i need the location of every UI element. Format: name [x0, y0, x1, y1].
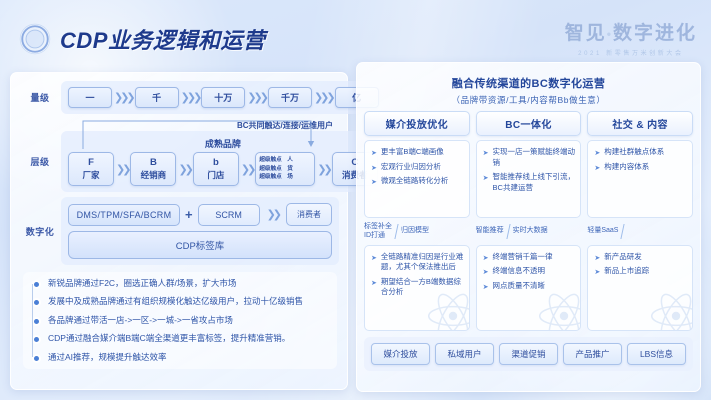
cdp-tag-library-bar[interactable]: CDP标签库 — [68, 231, 332, 259]
capability-label-bigdata: 实时大数据 — [513, 227, 548, 236]
page-title: CDP业务逻辑和运营 — [60, 23, 265, 55]
tier-box-factory[interactable]: F 厂家 — [68, 152, 114, 186]
arrow-marker-icon: ➤ — [371, 164, 377, 172]
arrow-marker-icon: ➤ — [371, 149, 377, 157]
capability-label-attribution: 归因模型 — [401, 227, 429, 236]
capability-group-3: 轻量SaaS — [587, 223, 693, 241]
bullet-text: CDP通过融合媒介端B端C端全渠道更丰富标签，提升精准营销。 — [48, 333, 290, 344]
capability-label-id: ID打通 — [364, 232, 385, 239]
touchpoint-goods: 超级触点 货 — [258, 165, 312, 173]
bullet-dot-icon — [34, 356, 39, 361]
list-item-text: 终端信息不透明 — [493, 266, 546, 277]
list-item-text: 新产品研发 — [604, 252, 642, 263]
arrow-marker-icon: ➤ — [594, 149, 600, 157]
plus-icon: + — [185, 207, 193, 222]
arrow-marker-icon: ➤ — [594, 268, 600, 276]
arrow-marker-icon: ➤ — [594, 254, 600, 262]
list-item-text: 微观全链路转化分析 — [381, 176, 449, 187]
bullet-dot-icon — [34, 337, 39, 342]
arrow-marker-icon: ➤ — [483, 149, 489, 157]
column-head-media[interactable]: 媒介投放优化 — [364, 111, 470, 136]
column-social-bottom: ➤ 新产品研发 ➤ 新品上市追踪 — [587, 241, 693, 331]
arrow-marker-icon: ➤ — [483, 174, 489, 182]
row-label-digital: 数字化 — [19, 225, 61, 238]
list-item: 新锐品牌通过F2C，圈选正确人群/场景，扩大市场 — [27, 278, 331, 289]
right-panel-title: 融合传统渠道的BC数字化运营 — [364, 75, 693, 91]
tag-media-delivery[interactable]: 媒介投放 — [371, 343, 430, 365]
bullet-text: 各品牌通过带活一店->一区->一城->一省攻占市场 — [48, 315, 233, 326]
left-panel: 量级 一 ❯❯❯ 千 ❯❯❯ 十万 ❯❯❯ 千万 ❯❯❯ 亿 BC共同触达/连接… — [10, 72, 348, 390]
list-item-text: 期望结合一方B端数据综合分析 — [381, 277, 464, 298]
tier-name-b: 经销商 — [133, 170, 173, 181]
atom-icon — [536, 288, 581, 331]
bullet-text: 通过AI推荐，规模提升触达效率 — [48, 352, 167, 363]
touchpoint-place: 超级触点 场 — [258, 173, 312, 181]
divider-slash-icon — [621, 224, 625, 239]
list-item: ➤ 网点质量不清晰 — [482, 281, 576, 292]
list-item-text: 新品上市追踪 — [604, 266, 649, 277]
tag-channel-promotion[interactable]: 渠道促销 — [499, 343, 558, 365]
list-item: 通过AI推荐，规模提升触达效率 — [27, 352, 331, 363]
divider-slash-icon — [394, 224, 398, 239]
capability-group-1: 标签补全 ID打通 归因模型 — [364, 223, 470, 241]
slide-header: CDP业务逻辑和运营 智见•数字进化 2021 新零售万米创新大会 — [0, 0, 711, 68]
arrow-marker-icon: ➤ — [483, 283, 489, 291]
chevrons-icon: ❯❯ — [239, 163, 255, 176]
chevrons-icon: ❯❯ — [315, 163, 331, 176]
column-media: 媒介投放优化 ➤ 更丰富B端C端画像 ➤ 宏观行业归因分析 ➤ 微观全链路转化分… — [364, 111, 470, 218]
list-item: ➤ 微观全链路转化分析 — [370, 176, 464, 187]
digital-row-body: DMS/TPM/SFA/BCRM + SCRM ❯❯ 消费者 CDP标签库 — [61, 197, 339, 265]
list-item: ➤ 更丰富B端C端画像 — [370, 147, 464, 158]
scale-row-body: 一 ❯❯❯ 千 ❯❯❯ 十万 ❯❯❯ 千万 ❯❯❯ 亿 — [61, 81, 386, 114]
card-social-bottom: ➤ 新产品研发 ➤ 新品上市追踪 — [587, 245, 693, 331]
arrow-marker-icon: ➤ — [594, 164, 600, 172]
row-label-scale: 量级 — [19, 91, 61, 104]
column-bc: BC一体化 ➤ 实现一店一策赋能终端动销 ➤ 智能推荐线上线下引流，BC共建运营 — [476, 111, 582, 218]
list-item: ➤ 构建内容体系 — [593, 162, 687, 173]
tier-flow: F 厂家 ❯❯ B 经销商 ❯❯ b 门店 ❯❯ 超级触点 人 超级触点 货 超… — [68, 152, 378, 186]
bottom-cards-row: ➤ 全链路精准归因是行业难题，尤其个保法推出后 ➤ 期望结合一方B端数据综合分析 — [364, 241, 693, 331]
tier-box-store[interactable]: b 门店 — [193, 152, 239, 186]
right-panel-subtitle: （品牌带资源/工具/内容帮Bb做生意） — [364, 94, 693, 106]
column-media-bottom: ➤ 全链路精准归因是行业难题，尤其个保法推出后 ➤ 期望结合一方B端数据综合分析 — [364, 241, 470, 331]
bullet-dot-icon — [34, 319, 39, 324]
capability-label-tag: 标签补全 — [364, 223, 392, 230]
tier-name-f: 厂家 — [71, 170, 111, 181]
insight-bullet-list: 新锐品牌通过F2C，圈选正确人群/场景，扩大市场 发展中及成熟品牌通过有组织规模… — [23, 272, 337, 369]
tier-code-b-small: b — [196, 157, 236, 170]
list-item-text: 构建内容体系 — [604, 162, 649, 173]
list-item: 各品牌通过带活一店->一区->一城->一省攻占市场 — [27, 315, 331, 326]
list-item: ➤ 终端信息不透明 — [482, 266, 576, 277]
scrm-bar[interactable]: SCRM — [198, 204, 260, 226]
atom-icon — [648, 288, 693, 331]
scale-chip-list: 一 ❯❯❯ 千 ❯❯❯ 十万 ❯❯❯ 千万 ❯❯❯ 亿 — [68, 87, 379, 108]
list-item-text: 网点质量不清晰 — [493, 281, 546, 292]
tag-lbs-info[interactable]: LBS信息 — [627, 343, 686, 365]
capability-group-2: 智能推荐 实时大数据 — [476, 223, 582, 241]
touchpoint-people: 超级触点 人 — [258, 156, 312, 164]
list-item-text: 全链路精准归因是行业难题，尤其个保法推出后 — [381, 252, 464, 273]
right-panel-header: 融合传统渠道的BC数字化运营 （品牌带资源/工具/内容帮Bb做生意） — [364, 69, 693, 111]
chevrons-icon: ❯❯ — [265, 208, 281, 221]
brand-name-right: 数字进化 — [613, 23, 697, 44]
column-social: 社交 & 内容 ➤ 构建社群触点体系 ➤ 构建内容体系 — [587, 111, 693, 218]
list-item-text: 终端营销千篇一律 — [493, 252, 553, 263]
scale-chip-1[interactable]: 一 — [68, 87, 112, 108]
tier-box-distributor[interactable]: B 经销商 — [130, 152, 176, 186]
card-social-top: ➤ 构建社群触点体系 ➤ 构建内容体系 — [587, 140, 693, 218]
list-item-text: 智能推荐线上线下引流，BC共建运营 — [493, 172, 576, 193]
chevrons-icon: ❯❯❯ — [179, 91, 202, 104]
consumer-bar[interactable]: 消费者 — [286, 203, 332, 226]
card-media-bottom: ➤ 全链路精准归因是行业难题，尤其个保法推出后 ➤ 期望结合一方B端数据综合分析 — [364, 245, 470, 331]
card-media-top: ➤ 更丰富B端C端画像 ➤ 宏观行业归因分析 ➤ 微观全链路转化分析 — [364, 140, 470, 218]
list-item: ➤ 实现一店一策赋能终端动销 — [482, 147, 576, 168]
chevrons-icon: ❯❯❯ — [245, 91, 268, 104]
digital-systems-line: DMS/TPM/SFA/BCRM + SCRM ❯❯ 消费者 — [68, 203, 332, 226]
list-item-text: 更丰富B端C端画像 — [381, 147, 444, 158]
scale-chip-3[interactable]: 十万 — [201, 87, 245, 108]
divider-slash-icon — [506, 224, 510, 239]
chevrons-icon: ❯❯❯ — [312, 91, 335, 104]
arrow-marker-icon: ➤ — [371, 279, 377, 287]
systems-bar[interactable]: DMS/TPM/SFA/BCRM — [68, 204, 180, 226]
title-block: CDP业务逻辑和运营 — [18, 22, 265, 56]
tier-box-super-touchpoints[interactable]: 超级触点 人 超级触点 货 超级触点 场 — [255, 152, 315, 186]
brand-subtitle: 2021 新零售万米创新大会 — [565, 48, 697, 57]
brand-name-left: 智见 — [565, 23, 607, 44]
chevrons-icon: ❯❯ — [114, 163, 130, 176]
list-item: ➤ 构建社群触点体系 — [593, 147, 687, 158]
capability-label-tag-id: 标签补全 ID打通 — [364, 223, 392, 241]
tag-product-promotion[interactable]: 产品推广 — [563, 343, 622, 365]
row-label-tier: 层级 — [19, 155, 61, 168]
list-item-text: 宏观行业归因分析 — [381, 162, 441, 173]
card-bc-top: ➤ 实现一店一策赋能终端动销 ➤ 智能推荐线上线下引流，BC共建运营 — [476, 140, 582, 218]
tier-code-b: B — [133, 157, 173, 170]
right-panel: 融合传统渠道的BC数字化运营 （品牌带资源/工具/内容帮Bb做生意） 媒介投放优… — [356, 62, 701, 392]
tag-private-users[interactable]: 私域用户 — [435, 343, 494, 365]
arrow-marker-icon: ➤ — [483, 268, 489, 276]
list-item: 发展中及成熟品牌通过有组织规模化触达亿级用户，拉动十亿级销售 — [27, 296, 331, 307]
capability-label-recommendation: 智能推荐 — [476, 227, 504, 236]
list-item: ➤ 智能推荐线上线下引流，BC共建运营 — [482, 172, 576, 193]
column-head-bc[interactable]: BC一体化 — [476, 111, 582, 136]
column-heads-row: 媒介投放优化 ➤ 更丰富B端C端画像 ➤ 宏观行业归因分析 ➤ 微观全链路转化分… — [364, 111, 693, 218]
brand-name: 智见•数字进化 — [565, 18, 697, 45]
digital-row: 数字化 DMS/TPM/SFA/BCRM + SCRM ❯❯ 消费者 CDP标签… — [19, 197, 339, 265]
tier-row-body: 新锐 品牌 成熟品牌 F 厂家 ❯❯ B 经销商 ❯❯ b — [61, 131, 385, 192]
list-item: ➤ 新品上市追踪 — [593, 266, 687, 277]
tier-row: 层级 新锐 品牌 成熟品牌 F 厂家 ❯❯ B 经销商 — [19, 131, 339, 192]
column-head-social[interactable]: 社交 & 内容 — [587, 111, 693, 136]
arrow-marker-icon: ➤ — [483, 254, 489, 262]
list-item-text: 实现一店一策赋能终端动销 — [493, 147, 576, 168]
bullet-text: 发展中及成熟品牌通过有组织规模化触达亿级用户，拉动十亿级销售 — [48, 296, 303, 307]
scale-chip-4[interactable]: 千万 — [268, 87, 312, 108]
tier-code-f: F — [71, 157, 111, 170]
scale-chip-2[interactable]: 千 — [135, 87, 179, 108]
list-item: CDP通过融合媒介端B端C端全渠道更丰富标签，提升精准营销。 — [27, 333, 331, 344]
scale-row: 量级 一 ❯❯❯ 千 ❯❯❯ 十万 ❯❯❯ 千万 ❯❯❯ 亿 — [19, 81, 339, 114]
tier-name-b-small: 门店 — [196, 170, 236, 181]
arrow-marker-icon: ➤ — [371, 254, 377, 262]
bullet-text: 新锐品牌通过F2C，圈选正确人群/场景，扩大市场 — [48, 278, 236, 289]
list-item: ➤ 宏观行业归因分析 — [370, 162, 464, 173]
bullet-dot-icon — [34, 282, 39, 287]
capability-labels-row: 标签补全 ID打通 归因模型 智能推荐 实时大数据 轻量SaaS — [364, 223, 693, 241]
bullet-dot-icon — [34, 300, 39, 305]
ring-icon — [18, 22, 52, 56]
list-item: ➤ 新产品研发 — [593, 252, 687, 263]
brand-logo: 智见•数字进化 2021 新零售万米创新大会 — [565, 18, 697, 57]
list-item-text: 构建社群触点体系 — [604, 147, 664, 158]
capability-label-saas: 轻量SaaS — [587, 227, 618, 236]
list-item: ➤ 全链路精准归因是行业难题，尤其个保法推出后 — [370, 252, 464, 273]
arrow-marker-icon: ➤ — [371, 178, 377, 186]
card-bc-bottom: ➤ 终端营销千篇一律 ➤ 终端信息不透明 ➤ 网点质量不清晰 — [476, 245, 582, 331]
chevrons-icon: ❯❯ — [176, 163, 192, 176]
chevrons-icon: ❯❯❯ — [112, 91, 135, 104]
list-item: ➤ 期望结合一方B端数据综合分析 — [370, 277, 464, 298]
list-item: ➤ 终端营销千篇一律 — [482, 252, 576, 263]
mature-brand-label: 成熟品牌 — [68, 137, 378, 150]
column-bc-bottom: ➤ 终端营销千篇一律 ➤ 终端信息不透明 ➤ 网点质量不清晰 — [476, 241, 582, 331]
bottom-tags-row: 媒介投放 私域用户 渠道促销 产品推广 LBS信息 — [364, 337, 693, 371]
